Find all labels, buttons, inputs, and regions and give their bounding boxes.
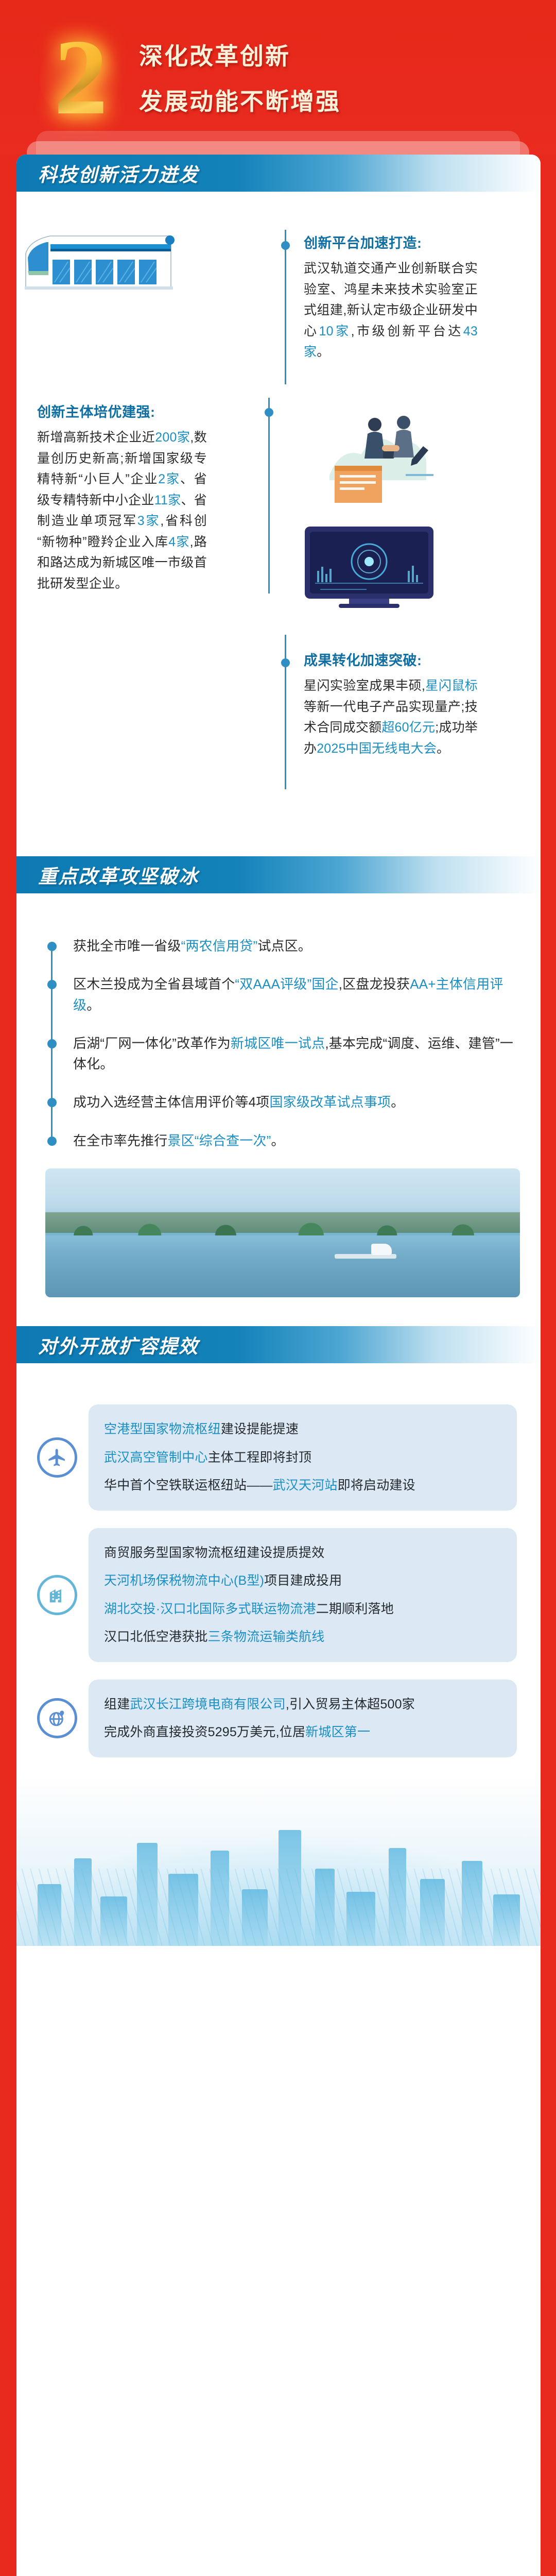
sheet-wrapper: 科技创新活力迸发 xyxy=(0,155,556,2576)
section-bar-title: 重点改革攻坚破冰 xyxy=(38,861,199,889)
connector-rail-3 xyxy=(285,635,286,789)
section-bar-title: 对外开放扩容提效 xyxy=(38,1331,199,1359)
content-sheet: 科技创新活力迸发 xyxy=(16,155,541,2576)
card-trade-logistics: 商贸服务型国家物流枢纽建设提质提效 天河机场保税物流中心(B型)项目建成投用 湖… xyxy=(37,1528,517,1662)
card-line: 组建武汉长江跨境电商有限公司,引入贸易主体超500家 xyxy=(104,1694,501,1715)
connector-dot-1 xyxy=(281,241,290,250)
section-bar-opening-up: 对外开放扩容提效 xyxy=(16,1326,541,1363)
airplane-icon xyxy=(37,1437,77,1478)
connector-dot-2 xyxy=(265,408,273,417)
card-text-body: 商贸服务型国家物流枢纽建设提质提效 天河机场保税物流中心(B型)项目建成投用 湖… xyxy=(89,1528,517,1662)
card-line: 天河机场保税物流中心(B型)项目建成投用 xyxy=(104,1570,501,1591)
card-line: 华中首个空铁联运枢纽站——武汉天河站即将启动建设 xyxy=(104,1475,501,1496)
hero-title-group: 深化改革创新 发展动能不断增强 xyxy=(139,38,341,117)
block-body: 星闪实验室成果丰硕,星闪鼠标等新一代电子产品实现量产;技术合同成交额超60亿元;… xyxy=(304,675,478,759)
card-line: 武汉高空管制中心主体工程即将封顶 xyxy=(104,1447,501,1468)
business-people-illustration xyxy=(325,398,444,506)
section-key-reform: 获批全市唯一省级“两农信用贷”试点区。 区木兰投成为全省县域首个“双AAA评级”… xyxy=(16,893,541,1302)
block-innovation-platform: 创新平台加速打造: 武汉轨道交通产业创新联合实验室、鸿星未来技术实验室正式组建,… xyxy=(304,232,478,363)
bullet-dot-icon xyxy=(47,1137,57,1146)
section-bar-key-reform: 重点改革攻坚破冰 xyxy=(16,856,541,893)
card-line: 完成外商直接投资5295万美元,位居新城区第一 xyxy=(104,1722,501,1743)
connector-rail-1 xyxy=(285,230,286,384)
section-number-glyph: 2 xyxy=(54,23,108,131)
bullet-text: 在全市率先推行景区“综合查一次”。 xyxy=(73,1130,521,1151)
footer-wave-lines xyxy=(16,1869,541,1946)
card-line: 汉口北低空港获批三条物流运输类航线 xyxy=(104,1626,501,1648)
bullet-dot-icon xyxy=(47,942,57,951)
photo-boat xyxy=(371,1244,392,1255)
card-cross-border-trade: 组建武汉长江跨境电商有限公司,引入贸易主体超500家 完成外商直接投资5295万… xyxy=(37,1680,517,1757)
card-line: 湖北交投·汉口北国际多式联运物流港二期顺利落地 xyxy=(104,1599,501,1620)
block-title: 成果转化加速突破: xyxy=(304,649,478,669)
bullet-dot-icon xyxy=(47,1098,57,1107)
list-item: 在全市率先推行景区“综合查一次”。 xyxy=(45,1130,521,1151)
building-icon xyxy=(37,1575,77,1615)
photo-water xyxy=(45,1235,520,1297)
section-number: 2 xyxy=(32,26,130,129)
block-achievement-transformation: 成果转化加速突破: 星闪实验室成果丰硕,星闪鼠标等新一代电子产品实现量产;技术合… xyxy=(304,649,478,759)
card-text-body: 组建武汉长江跨境电商有限公司,引入贸易主体超500家 完成外商直接投资5295万… xyxy=(89,1680,517,1757)
bullet-text: 获批全市唯一省级“两农信用贷”试点区。 xyxy=(73,936,521,956)
reform-bullet-list: 获批全市唯一省级“两农信用贷”试点区。 区木兰投成为全省县域首个“双AAA评级”… xyxy=(45,936,521,1151)
bullet-dot-icon xyxy=(47,980,57,989)
infographic-page: 2 深化改革创新 发展动能不断增强 科技创新活力迸发 xyxy=(0,0,556,2576)
connector-dot-3 xyxy=(281,658,290,667)
list-item: 获批全市唯一省级“两农信用贷”试点区。 xyxy=(45,936,521,956)
lab-device-illustration xyxy=(305,521,433,614)
section-bar-tech-innovation: 科技创新活力迸发 xyxy=(16,155,541,192)
section-tech-innovation: 创新平台加速打造: 武汉轨道交通产业创新联合实验室、鸿星未来技术实验室正式组建,… xyxy=(16,192,541,856)
list-item: 区木兰投成为全省县域首个“双AAA评级”国企,区盘龙投获AA+主体信用评级。 xyxy=(45,974,521,1015)
card-line: 空港型国家物流枢纽建设提能提速 xyxy=(104,1419,501,1440)
bullet-text: 后湖“厂网一体化”改革作为新城区唯一试点,基本完成“调度、运维、建管”一体化。 xyxy=(73,1033,521,1075)
card-air-logistics: 空港型国家物流枢纽建设提能提速 武汉高空管制中心主体工程即将封顶 华中首个空铁联… xyxy=(37,1404,517,1511)
card-line: 商贸服务型国家物流枢纽建设提质提效 xyxy=(104,1543,501,1564)
photo-treeline xyxy=(45,1220,520,1235)
bullet-dot-icon xyxy=(47,1039,57,1048)
bullet-text: 成功入选经营主体信用评价等4项国家级改革试点事项。 xyxy=(73,1092,521,1112)
block-body: 武汉轨道交通产业创新联合实验室、鸿星未来技术实验室正式组建,新认定市级企业研发中… xyxy=(304,258,478,363)
block-title: 创新主体培优建强: xyxy=(37,401,207,421)
connector-rail-2 xyxy=(268,398,270,594)
hero-title-line-1: 深化改革创新 xyxy=(139,38,341,72)
block-body: 新增高新技术企业近200家,数量创历史新高;新增国家级专精特新“小巨人”企业2家… xyxy=(37,427,207,594)
list-item: 后湖“厂网一体化”改革作为新城区唯一试点,基本完成“调度、运维、建管”一体化。 xyxy=(45,1033,521,1075)
city-skyline-illustration xyxy=(16,1776,541,1946)
hero-title-line-2: 发展动能不断增强 xyxy=(139,83,341,117)
lake-scenery-photo xyxy=(45,1168,520,1297)
section-opening-up: 空港型国家物流枢纽建设提能提速 武汉高空管制中心主体工程即将封顶 华中首个空铁联… xyxy=(16,1363,541,1757)
card-text-body: 空港型国家物流枢纽建设提能提速 武汉高空管制中心主体工程即将封顶 华中首个空铁联… xyxy=(89,1404,517,1511)
globe-pin-icon xyxy=(37,1698,77,1738)
block-title: 创新平台加速打造: xyxy=(304,232,478,252)
bullet-text: 区木兰投成为全省县域首个“双AAA评级”国企,区盘龙投获AA+主体信用评级。 xyxy=(73,974,521,1015)
section-bar-title: 科技创新活力迸发 xyxy=(38,159,199,187)
list-item: 成功入选经营主体信用评价等4项国家级改革试点事项。 xyxy=(45,1092,521,1112)
train-illustration xyxy=(21,222,175,299)
block-innovation-entities: 创新主体培优建强: 新增高新技术企业近200家,数量创历史新高;新增国家级专精特… xyxy=(37,401,207,594)
